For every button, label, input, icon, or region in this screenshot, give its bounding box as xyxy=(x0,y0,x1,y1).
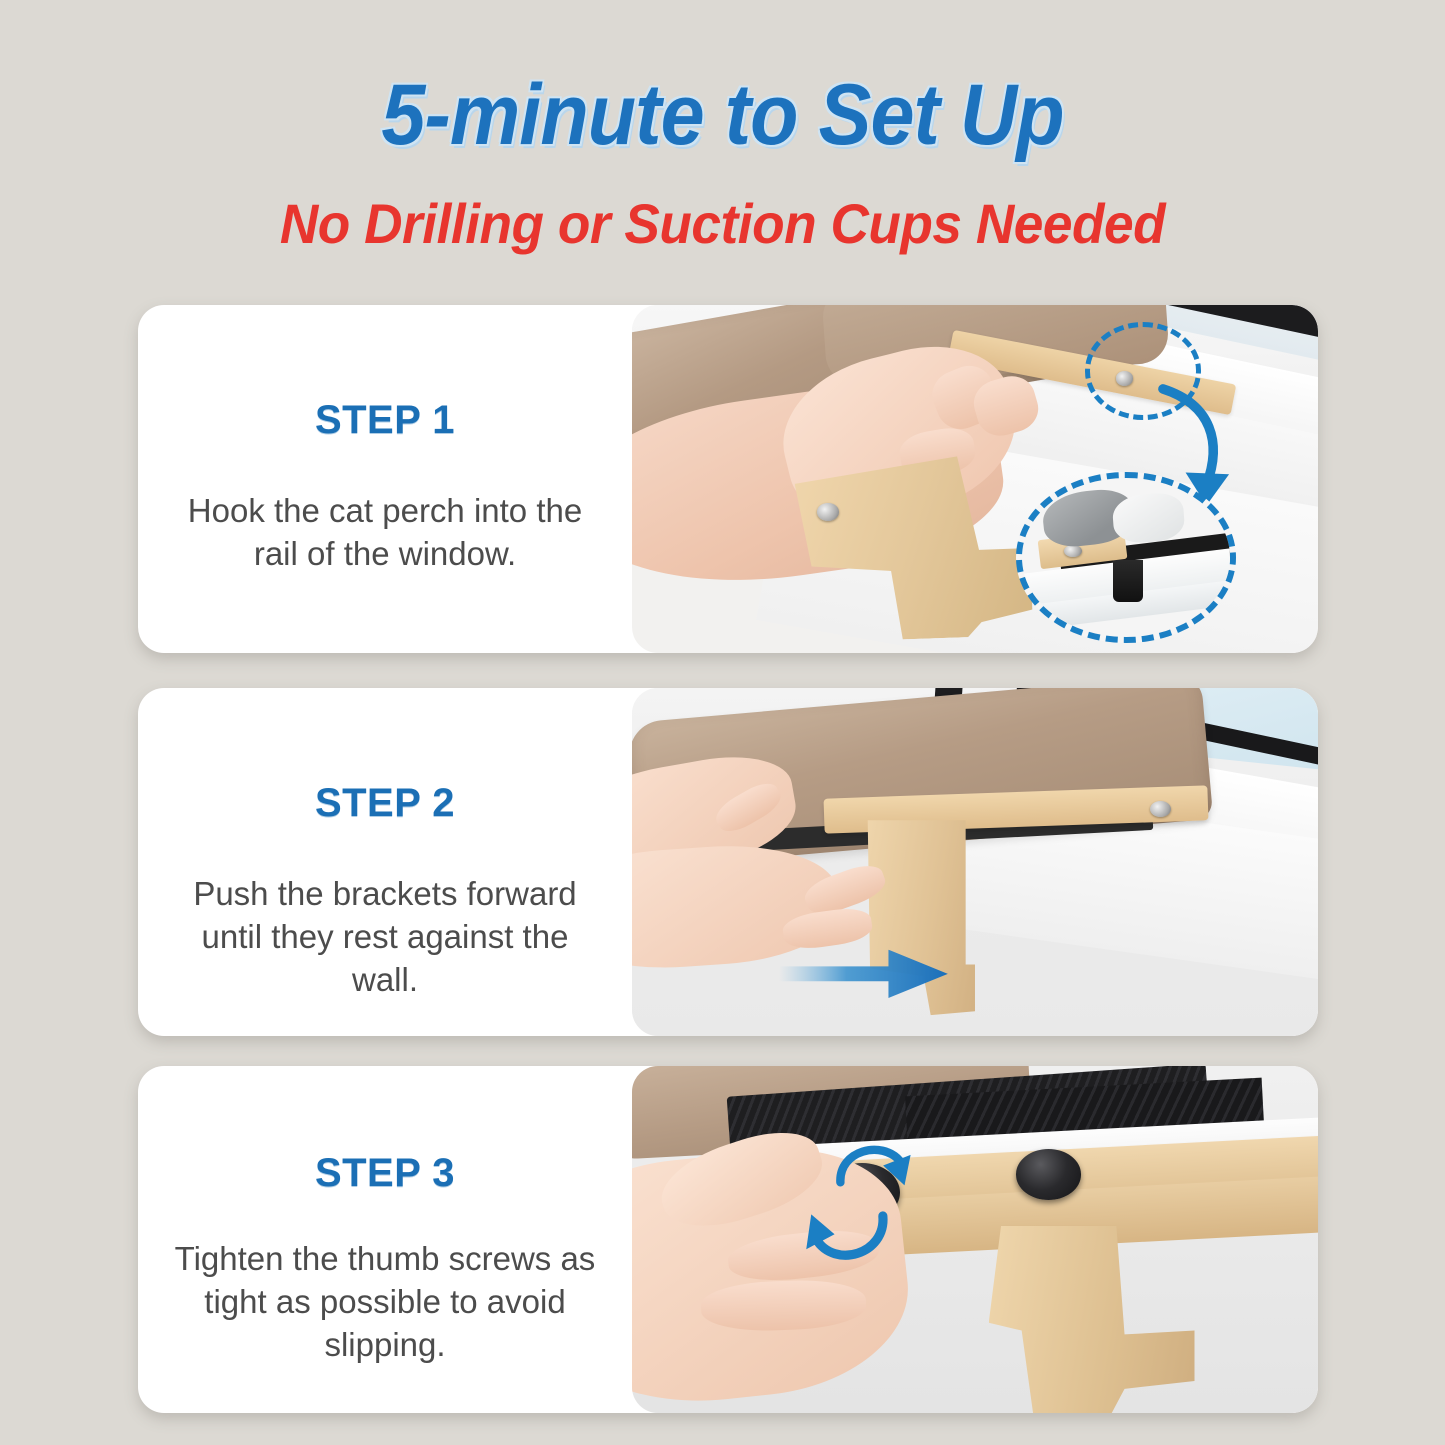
rotation-arrow-bottom xyxy=(769,1191,927,1274)
step-2-description: Push the brackets forward until they res… xyxy=(165,873,605,1002)
step-1-description: Hook the cat perch into the rail of the … xyxy=(165,490,605,576)
page-subtitle: No Drilling or Suction Cups Needed xyxy=(36,196,1409,252)
step-card-3: STEP 3 Tighten the thumb screws as tight… xyxy=(138,1066,1318,1413)
step-1-photo xyxy=(632,305,1318,653)
step-card-2: STEP 2 Push the brackets forward until t… xyxy=(138,688,1318,1036)
bracket-screw xyxy=(817,503,839,520)
page-title: 5-minute to Set Up xyxy=(58,72,1387,158)
step-3-text: STEP 3 Tighten the thumb screws as tight… xyxy=(138,1066,632,1413)
thumb-screw-far xyxy=(1016,1149,1081,1199)
step-3-label: STEP 3 xyxy=(315,1151,455,1196)
step-3-description: Tighten the thumb screws as tight as pos… xyxy=(165,1238,605,1367)
step-2-label: STEP 2 xyxy=(315,781,455,826)
infographic-page: 5-minute to Set Up No Drilling or Suctio… xyxy=(0,0,1445,1445)
step-1-label: STEP 1 xyxy=(315,398,455,443)
step-card-1: STEP 1 Hook the cat perch into the rail … xyxy=(138,305,1318,653)
step-1-text: STEP 1 Hook the cat perch into the rail … xyxy=(138,305,632,653)
callout-black-hook-tip xyxy=(1113,560,1142,601)
step-2-photo xyxy=(632,688,1318,1036)
push-direction-arrow xyxy=(762,946,982,1002)
slat-screw-right xyxy=(1150,801,1171,817)
step-2-text: STEP 2 Push the brackets forward until t… xyxy=(138,688,632,1036)
callout-magnified-circle xyxy=(1016,472,1236,643)
step-3-photo xyxy=(632,1066,1318,1413)
